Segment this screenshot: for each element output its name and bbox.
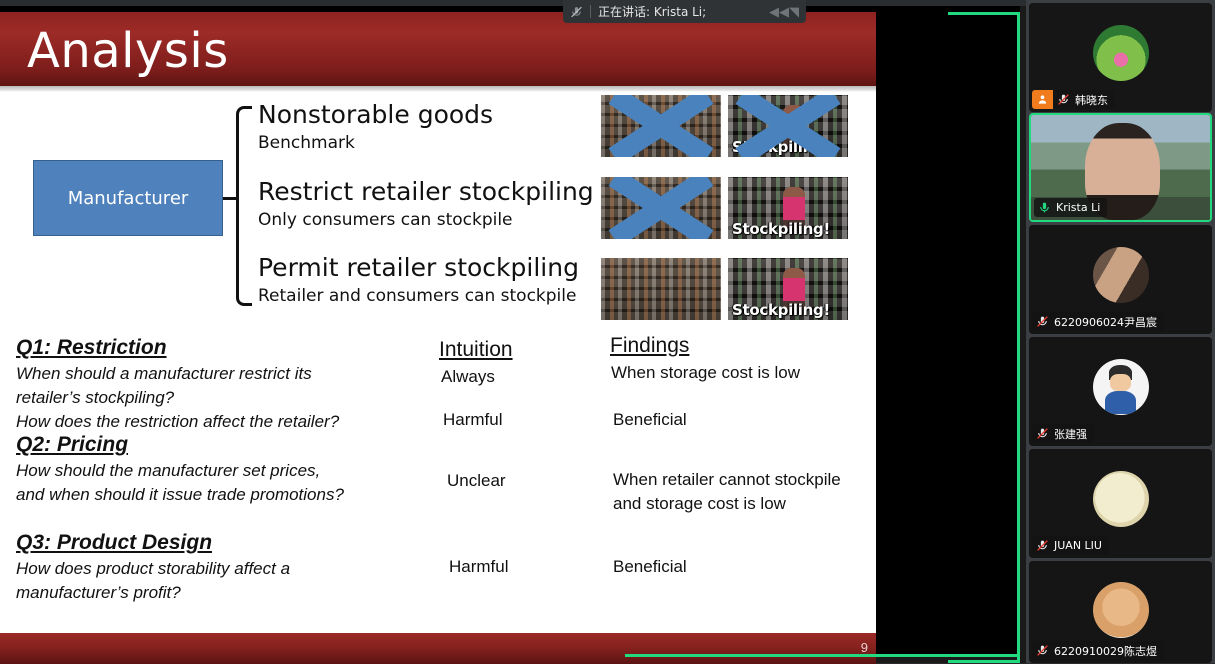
column-header-findings: Findings: [610, 333, 689, 358]
branch-permit-stockpiling: Permit retailer stockpiling Retailer and…: [258, 253, 579, 308]
question-line: How should the manufacturer set prices,: [16, 459, 344, 482]
branch-head: Permit retailer stockpiling: [258, 253, 579, 282]
mic-muted-icon: [1032, 641, 1052, 660]
participant-name: Krista Li: [1054, 201, 1107, 214]
brace-connector: [223, 197, 237, 200]
question-line: and when should it issue trade promotion…: [16, 483, 344, 506]
mic-active-icon: [1034, 198, 1054, 217]
chevron-collapse-icon[interactable]: ◀◀◥: [769, 4, 799, 20]
host-badge-icon: [1032, 90, 1053, 109]
warehouse-thumb-row1: [601, 95, 721, 157]
question-block-q3: Q3: Product Design How does product stor…: [16, 530, 290, 604]
thumb-caption: Stockpiling!: [732, 301, 830, 319]
mic-muted-icon: [1032, 536, 1052, 555]
slide-footer-band: 9: [0, 633, 876, 664]
zoom-meeting-window: Analysis Manufacturer Nonstorable goods …: [0, 0, 1215, 663]
branch-head: Nonstorable goods: [258, 100, 493, 129]
slide-page-number: 9: [861, 640, 868, 655]
participant-name: 张建强: [1052, 426, 1094, 442]
question-line: manufacturer’s profit?: [16, 581, 290, 604]
participant-name: 韩晓东: [1073, 92, 1115, 108]
question-heading: Q3: Product Design: [16, 530, 212, 556]
store-thumb-row3: Stockpiling!: [728, 258, 848, 320]
mic-muted-icon: [1032, 424, 1052, 443]
branch-sub: Retailer and consumers can stockpile: [258, 284, 579, 308]
page-title: Analysis: [27, 22, 229, 80]
cell-intuition-q1b: Harmful: [443, 408, 503, 432]
question-heading: Q1: Restriction: [16, 335, 167, 361]
participant-tile-han-xiaodong[interactable]: 韩晓东: [1029, 3, 1212, 112]
question-line: When should a manufacturer restrict its: [16, 362, 339, 385]
screen-share-highlight-bottom: [625, 654, 1020, 657]
branch-head: Restrict retailer stockpiling: [258, 177, 594, 206]
avatar: [1093, 247, 1149, 303]
branch-restrict-stockpiling: Restrict retailer stockpiling Only consu…: [258, 177, 594, 232]
participant-name-chip: Krista Li: [1034, 198, 1107, 217]
cell-intuition-q1a: Always: [441, 365, 495, 389]
question-heading: Q2: Pricing: [16, 432, 128, 458]
mic-muted-icon: [1032, 312, 1052, 331]
participant-name-chip: 韩晓东: [1032, 90, 1115, 109]
participant-tile-chen-zhiyu[interactable]: 6220910029陈志煜: [1029, 561, 1212, 663]
avatar: [1093, 582, 1149, 638]
participant-name: 6220906024尹昌宸: [1052, 314, 1164, 330]
warehouse-thumb-row3: [601, 258, 721, 320]
overlay-divider: [590, 5, 591, 18]
thumb-caption: Stockpiling!: [732, 138, 830, 156]
column-header-intuition: Intuition: [439, 337, 513, 362]
mic-muted-icon: [1053, 90, 1073, 109]
mic-muted-icon: [570, 5, 583, 19]
branch-nonstorable-goods: Nonstorable goods Benchmark: [258, 100, 493, 155]
store-thumb-row1: Stockpiling!: [728, 95, 848, 157]
question-block-q1: Q1: Restriction When should a manufactur…: [16, 335, 339, 433]
active-speaker-label: 正在讲话: Krista Li;: [598, 3, 706, 20]
question-line: retailer’s stockpiling?: [16, 386, 339, 409]
presentation-slide: Analysis Manufacturer Nonstorable goods …: [0, 12, 876, 664]
participant-tile-juan-liu[interactable]: JUAN LIU: [1029, 449, 1212, 558]
participant-name-chip: 张建强: [1032, 424, 1094, 443]
avatar: [1093, 471, 1149, 527]
screen-share-highlight-border: [948, 12, 1020, 663]
brace-bracket: [236, 106, 252, 306]
question-line: How does the restriction affect the reta…: [16, 410, 339, 433]
participant-name: JUAN LIU: [1052, 539, 1109, 552]
cell-findings-q2: When retailer cannot stockpile and stora…: [613, 468, 858, 516]
question-block-q2: Q2: Pricing How should the manufacturer …: [16, 432, 344, 506]
participant-video-strip[interactable]: 韩晓东 Krista Li: [1026, 0, 1215, 663]
store-thumb-row2: Stockpiling!: [728, 177, 848, 239]
participant-name-chip: 6220910029陈志煜: [1032, 641, 1164, 660]
active-speaker-overlay[interactable]: 正在讲话: Krista Li; ◀◀◥: [563, 0, 806, 23]
manufacturer-box: Manufacturer: [33, 160, 223, 236]
cell-findings-q1b: Beneficial: [613, 408, 687, 432]
avatar: [1093, 25, 1149, 81]
question-line: How does product storability affect a: [16, 557, 290, 580]
cell-findings-q3: Beneficial: [613, 555, 687, 579]
thumb-caption: Stockpiling!: [732, 220, 830, 238]
slide-title-divider: [0, 86, 876, 92]
shared-screen-stage[interactable]: Analysis Manufacturer Nonstorable goods …: [0, 6, 1020, 657]
cell-intuition-q3: Harmful: [449, 555, 509, 579]
participant-name: 6220910029陈志煜: [1052, 643, 1164, 659]
participant-name-chip: 6220906024尹昌宸: [1032, 312, 1164, 331]
participant-tile-yin-changchen[interactable]: 6220906024尹昌宸: [1029, 225, 1212, 334]
cell-findings-q1a: When storage cost is low: [611, 361, 800, 385]
participant-tile-zhang-jianqiang[interactable]: 张建强: [1029, 337, 1212, 446]
branch-sub: Only consumers can stockpile: [258, 208, 594, 232]
cell-intuition-q2: Unclear: [447, 469, 506, 493]
participant-name-chip: JUAN LIU: [1032, 536, 1109, 555]
avatar: [1093, 359, 1149, 415]
participant-tile-krista-li[interactable]: Krista Li: [1029, 113, 1212, 222]
branch-sub: Benchmark: [258, 131, 493, 155]
warehouse-thumb-row2: [601, 177, 721, 239]
